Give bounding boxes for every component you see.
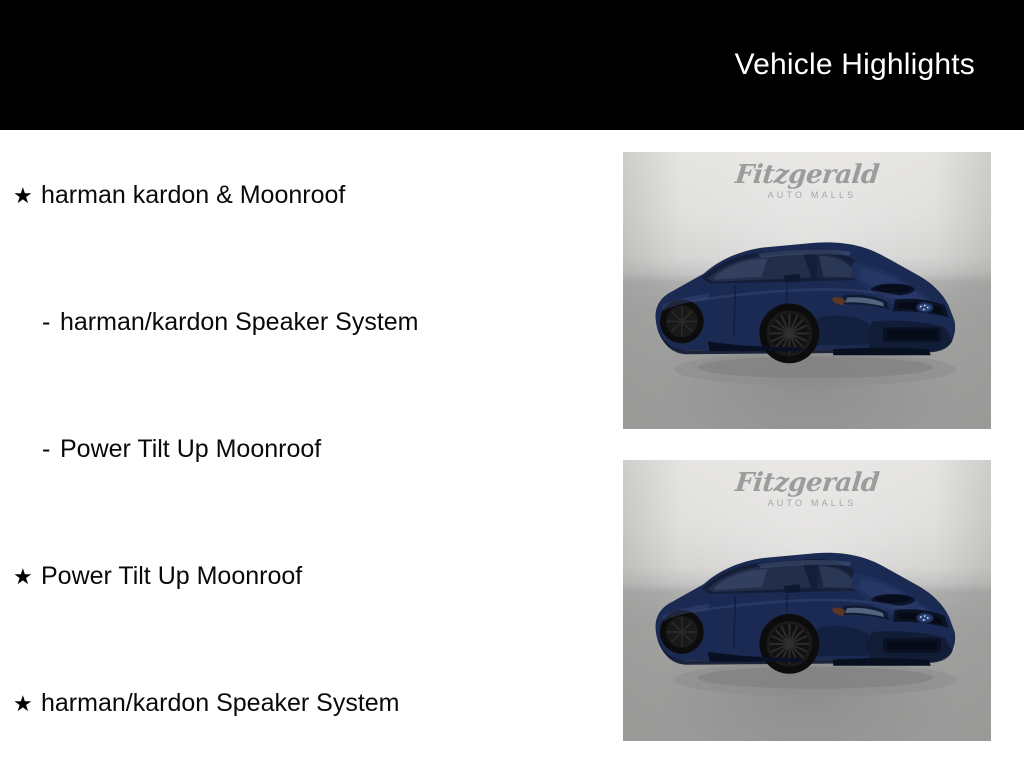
list-item: - Power Tilt Up Moonroof <box>0 434 642 464</box>
subaru-wrx-car-illustration <box>638 511 977 719</box>
list-item-label: Power Tilt Up Moonroof <box>60 434 321 464</box>
list-item-label: harman kardon & Moonroof <box>41 180 345 210</box>
star-bullet-icon: ★ <box>13 182 41 212</box>
list-item: ★ Power Tilt Up Moonroof <box>0 561 613 593</box>
list-item-label: harman/kardon Speaker System <box>60 307 419 337</box>
star-bullet-icon: ★ <box>13 563 41 593</box>
vehicle-photo-1[interactable]: Fitzgerald AUTO MALLS <box>623 152 991 429</box>
header-bar: Vehicle Highlights <box>0 0 1024 130</box>
star-bullet-icon: ★ <box>13 690 41 720</box>
vehicle-photo-2[interactable]: Fitzgerald AUTO MALLS <box>623 460 991 741</box>
dash-bullet-icon: - <box>42 307 60 337</box>
page-title: Vehicle Highlights <box>735 47 975 83</box>
list-item: ★ harman/kardon Speaker System <box>0 688 613 720</box>
list-item-label: Power Tilt Up Moonroof <box>41 561 302 591</box>
list-item-label: harman/kardon Speaker System <box>41 688 400 718</box>
slide-root: Vehicle Highlights ★ harman kardon & Moo… <box>0 0 1024 768</box>
list-item: ★ harman kardon & Moonroof <box>0 180 613 212</box>
subaru-wrx-car-illustration <box>638 202 977 407</box>
vehicle-highlights-list: ★ harman kardon & Moonroof - harman/kard… <box>0 130 600 768</box>
dash-bullet-icon: - <box>42 434 60 464</box>
list-item: - harman/kardon Speaker System <box>0 307 642 337</box>
